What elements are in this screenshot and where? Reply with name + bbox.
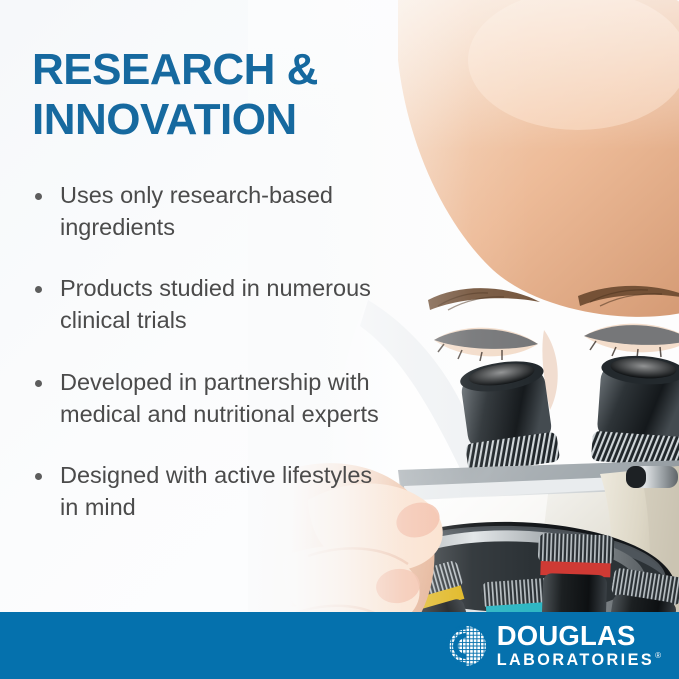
promo-card: RESEARCH & INNOVATION Uses only research… [0, 0, 679, 679]
feature-bullet-list: Uses only research-based ingredients Pro… [32, 180, 392, 524]
douglas-grid-circle-logo-icon [444, 624, 488, 668]
list-item: Developed in partnership with medical an… [32, 367, 392, 430]
bullet-text: Designed with active lifestyles in mind [60, 460, 392, 523]
logo-wordmark: DOUGLAS LABORATORIES ® [497, 621, 661, 669]
bullet-dot-icon [35, 380, 42, 387]
registered-trademark-icon: ® [655, 652, 661, 660]
douglas-laboratories-logo: DOUGLAS LABORATORIES ® [444, 621, 661, 669]
page-title-line-2: INNOVATION [32, 95, 402, 145]
list-item: Products studied in numerous clinical tr… [32, 273, 392, 336]
logo-name-bottom: LABORATORIES [497, 651, 654, 670]
brand-footer-bar: DOUGLAS LABORATORIES ® [0, 612, 679, 679]
logo-name-top: DOUGLAS [497, 621, 661, 649]
bullet-text: Developed in partnership with medical an… [60, 367, 392, 430]
page-title: RESEARCH & INNOVATION [32, 45, 402, 144]
bullet-dot-icon [35, 193, 42, 200]
page-title-line-1: RESEARCH & [32, 45, 402, 95]
bullet-text: Uses only research-based ingredients [60, 180, 392, 243]
bullet-dot-icon [35, 286, 42, 293]
bullet-text: Products studied in numerous clinical tr… [60, 273, 392, 336]
list-item: Uses only research-based ingredients [32, 180, 392, 243]
bullet-dot-icon [35, 473, 42, 480]
list-item: Designed with active lifestyles in mind [32, 460, 392, 523]
